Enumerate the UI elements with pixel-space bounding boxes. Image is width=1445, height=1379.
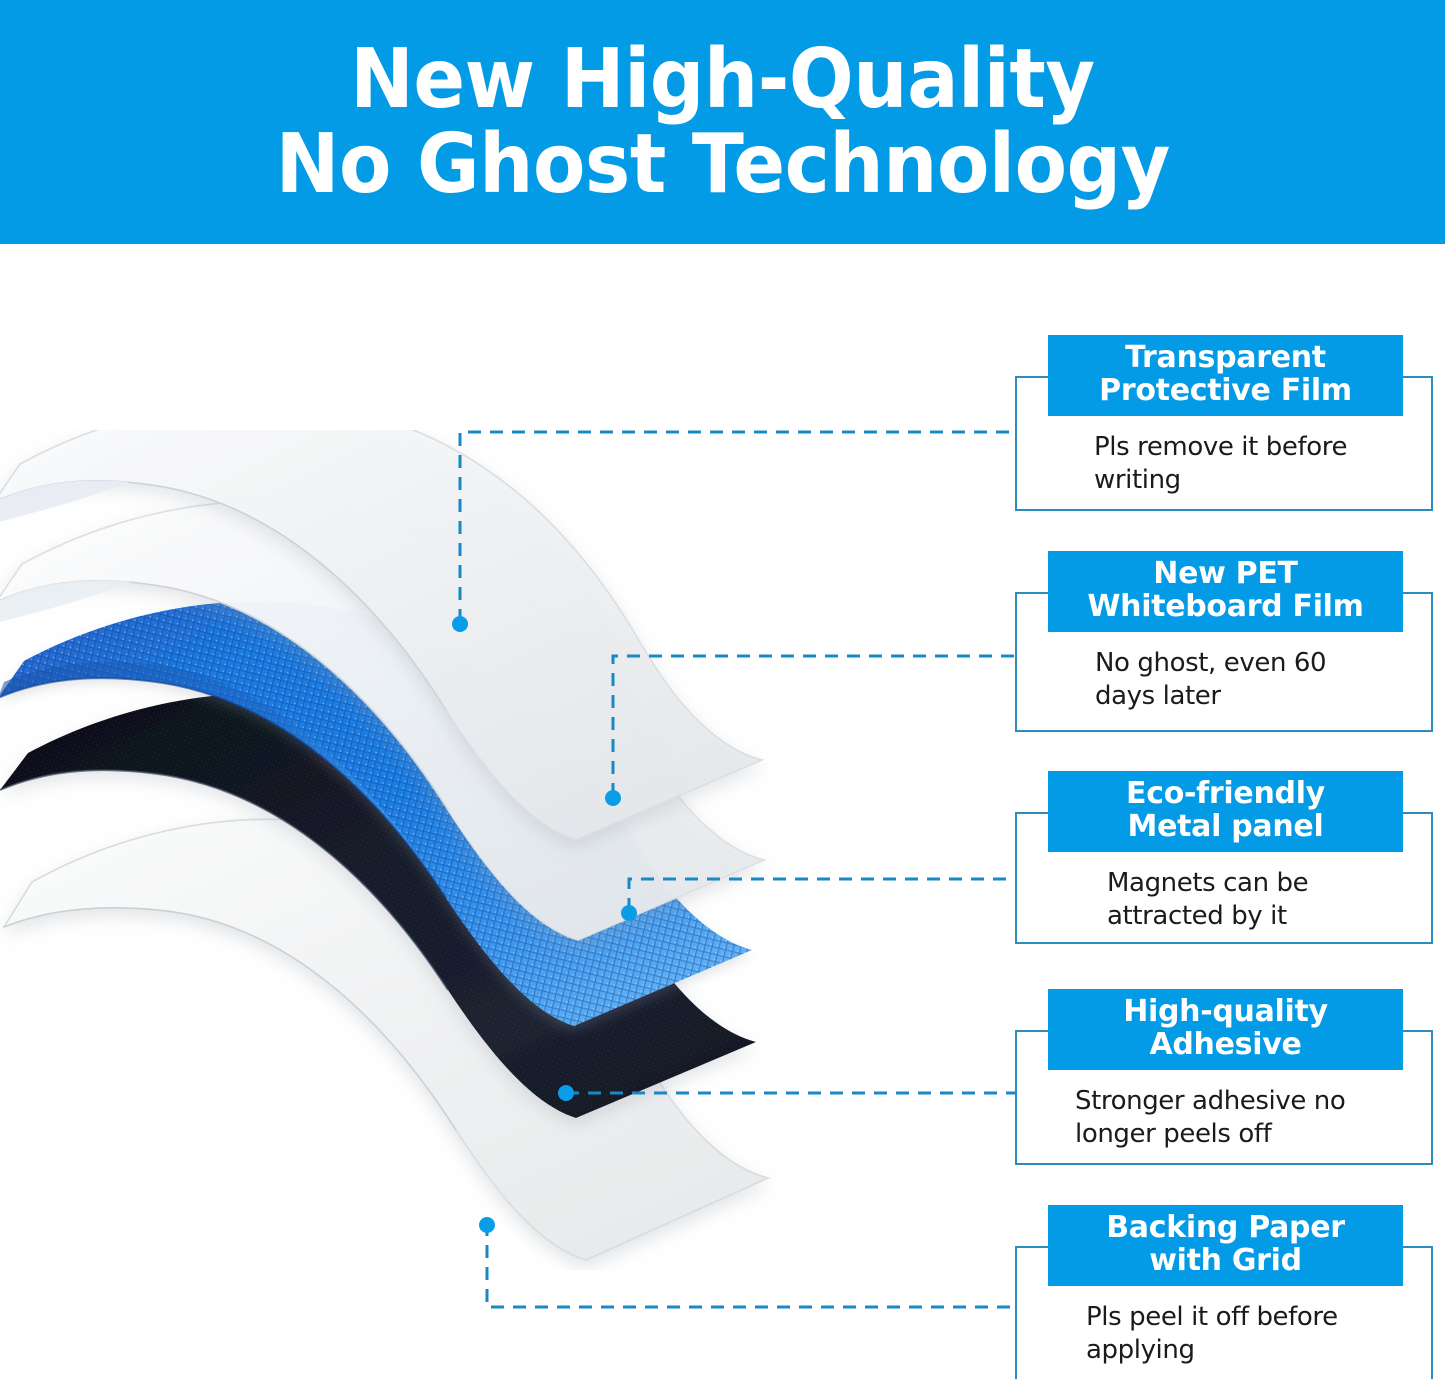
callout-description: Pls peel it off before applying: [1086, 1301, 1338, 1367]
header-banner: New High-Quality No Ghost Technology: [0, 0, 1445, 244]
headline-line-1: New High-Quality: [350, 37, 1095, 122]
callout-desc-line-1: Stronger adhesive no: [1075, 1085, 1345, 1118]
callout-desc-line-2: longer peels off: [1075, 1118, 1345, 1151]
callout-desc-line-1: No ghost, even 60: [1095, 647, 1326, 680]
callout-title-line-1: Backing Paper: [1106, 1212, 1345, 1244]
callout-title-line-2: Metal panel: [1128, 811, 1324, 843]
callout-description: No ghost, even 60 days later: [1095, 647, 1326, 713]
callout-desc-line-2: applying: [1086, 1334, 1338, 1367]
callout-title-line-1: New PET: [1153, 558, 1297, 590]
callout-title: Transparent Protective Film: [1048, 335, 1403, 416]
headline-line-2: No Ghost Technology: [275, 122, 1169, 207]
callout-title: New PET Whiteboard Film: [1048, 551, 1403, 632]
callout-title: High-quality Adhesive: [1048, 989, 1403, 1070]
callout-title-line-2: Whiteboard Film: [1087, 591, 1363, 623]
callout-title-line-2: Adhesive: [1149, 1029, 1301, 1061]
callout-description: Pls remove it before writing: [1094, 431, 1347, 497]
callout-desc-line-1: Pls remove it before: [1094, 431, 1347, 464]
callout-title-line-1: Eco-friendly: [1126, 778, 1325, 810]
callout-desc-line-2: days later: [1095, 680, 1326, 713]
callout-title-line-2: with Grid: [1149, 1245, 1302, 1277]
callout-desc-line-1: Pls peel it off before: [1086, 1301, 1338, 1334]
callout-title: Eco-friendly Metal panel: [1048, 771, 1403, 852]
callout-desc-line-1: Magnets can be: [1107, 867, 1308, 900]
infographic-page: New High-Quality No Ghost Technology: [0, 0, 1445, 1379]
callout-title-line-1: High-quality: [1123, 996, 1328, 1028]
callout-title-line-1: Transparent: [1125, 342, 1326, 374]
callout-title-line-2: Protective Film: [1099, 375, 1352, 407]
callout-description: Magnets can be attracted by it: [1107, 867, 1308, 933]
callout-title: Backing Paper with Grid: [1048, 1205, 1403, 1286]
callout-desc-line-2: writing: [1094, 464, 1347, 497]
callout-description: Stronger adhesive no longer peels off: [1075, 1085, 1345, 1151]
exploded-layer-illustration: [0, 430, 806, 1270]
callout-desc-line-2: attracted by it: [1107, 900, 1308, 933]
